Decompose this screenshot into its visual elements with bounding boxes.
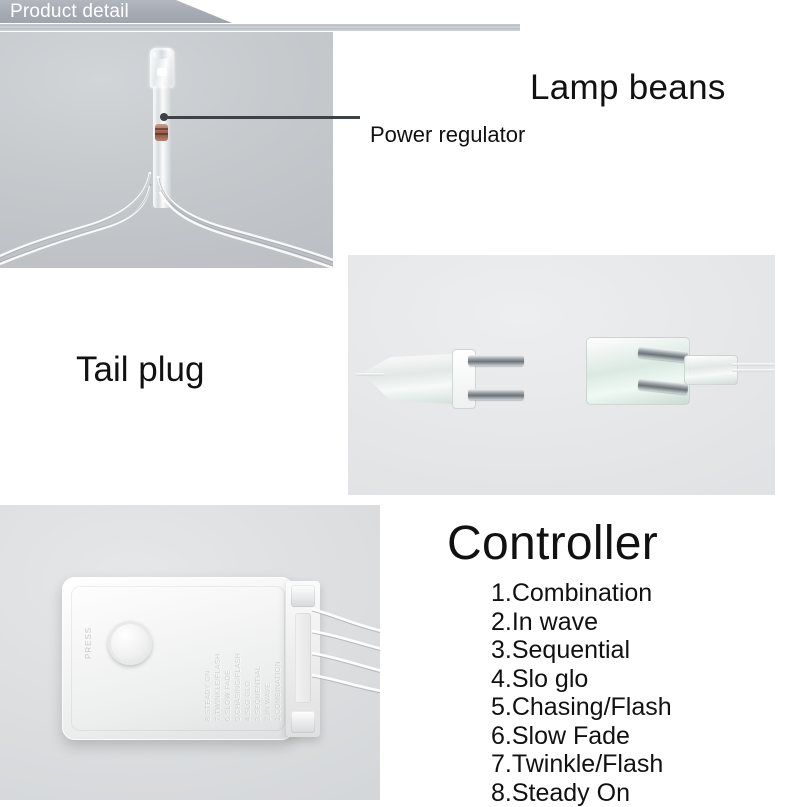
controller-modes-list: 1.Combination 2.In wave 3.Sequential 4.S… xyxy=(451,579,800,807)
list-item: 8.Steady On xyxy=(491,779,800,807)
controller-photo: PRESS 1.COMBINATION 2.IN WAVE 3.SEQUENTI… xyxy=(0,505,380,800)
plug-male-cord xyxy=(356,373,384,376)
embossed-mode: 7.TWINKLE/FLASH xyxy=(215,601,222,721)
header-rule-secondary xyxy=(0,29,520,31)
tail-plug-heading: Tail plug xyxy=(76,350,204,390)
list-item: 1.Combination xyxy=(491,579,800,608)
plug-male xyxy=(356,343,546,413)
controller-press-button[interactable] xyxy=(108,621,152,665)
list-item: 7.Twinkle/Flash xyxy=(491,750,800,779)
wire-slot xyxy=(295,613,311,703)
plug-female xyxy=(586,333,775,413)
bead-lens xyxy=(150,48,174,88)
embossed-mode: 8.STEADY ON xyxy=(205,601,212,721)
callout-leader-line xyxy=(163,116,360,119)
lamp-beans-heading: Lamp beans xyxy=(530,68,726,108)
plug-female-cord xyxy=(732,363,775,366)
list-item: 6.Slow Fade xyxy=(491,722,800,751)
power-regulator-label: Power regulator xyxy=(370,122,525,148)
list-item: 3.Sequential xyxy=(491,636,800,665)
power-regulator-resistor xyxy=(155,124,168,141)
lamp-bead-photo xyxy=(0,32,333,268)
list-item: 4.Slo glo xyxy=(491,665,800,694)
embossed-mode: 3.SEQUENTIAL xyxy=(255,601,262,721)
embossed-mode: 1.COMBINATION xyxy=(275,601,282,721)
plug-prong-bottom xyxy=(468,389,524,400)
list-item: 5.Chasing/Flash xyxy=(491,693,800,722)
plug-female-cord-2 xyxy=(732,369,775,372)
twisted-wires xyxy=(0,172,333,268)
page-title: Product detail xyxy=(10,0,129,23)
embossed-mode: 6.SLOW FADE xyxy=(225,601,232,721)
list-item: 2.In wave xyxy=(491,608,800,637)
embossed-mode: 4.SLO GLO xyxy=(245,601,252,721)
controller-heading: Controller xyxy=(447,516,658,571)
embossed-mode: 5.CHASING/FLASH xyxy=(235,601,242,721)
controller-housing: PRESS 1.COMBINATION 2.IN WAVE 3.SEQUENTI… xyxy=(62,577,294,740)
plug-female-strain-relief xyxy=(684,355,738,385)
controller-output-wires xyxy=(312,591,380,721)
embossed-mode: 2.IN WAVE xyxy=(265,601,272,721)
controller-embossed-modes: 1.COMBINATION 2.IN WAVE 3.SEQUENTIAL 4.S… xyxy=(154,601,282,721)
plug-prong-top xyxy=(468,355,524,366)
press-label: PRESS xyxy=(84,623,98,659)
tail-plug-photo xyxy=(348,255,775,495)
